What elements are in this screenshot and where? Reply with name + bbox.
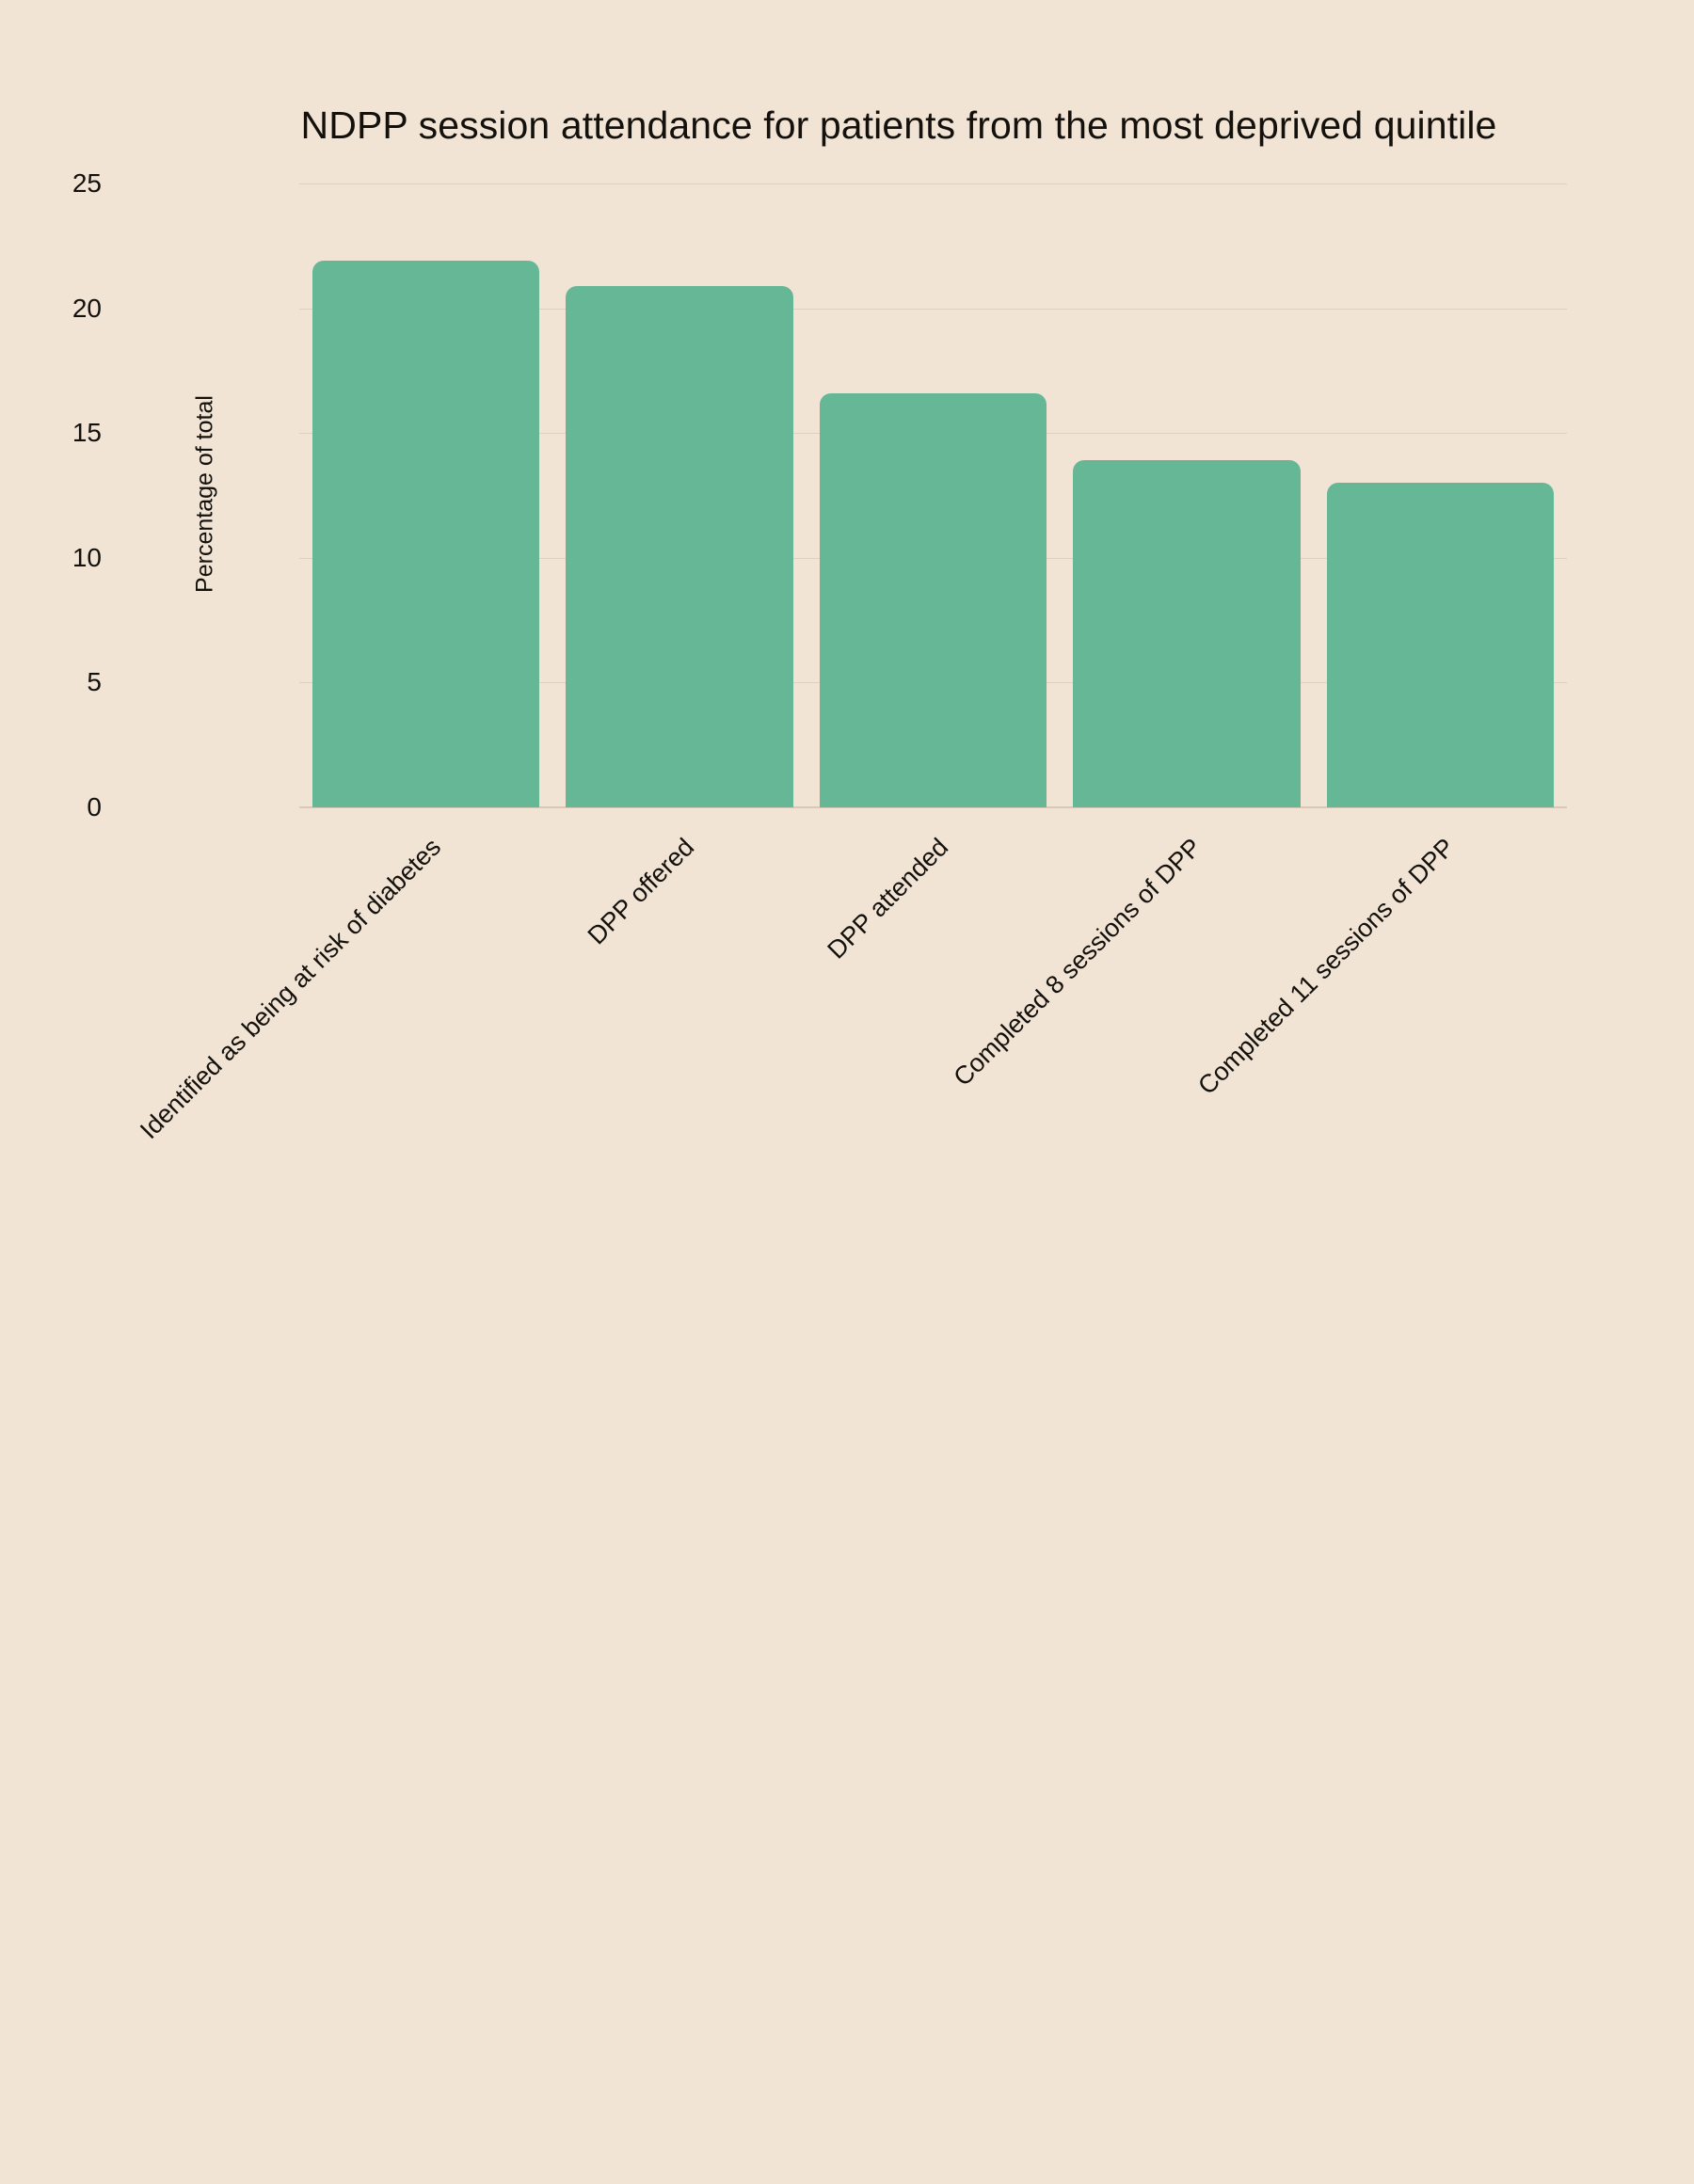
bar-chart: NDPP session attendance for patients fro… <box>0 0 1694 1196</box>
bar[interactable] <box>1073 460 1300 807</box>
bar-slot <box>1327 183 1554 807</box>
y-axis-title: Percentage of total <box>192 395 219 593</box>
x-tick-label: Completed 8 sessions of DPP <box>0 833 1207 2184</box>
bar-slot <box>566 183 792 807</box>
bar-slot <box>1073 183 1300 807</box>
bar[interactable] <box>566 286 792 807</box>
y-tick-label-25: 25 <box>36 168 102 199</box>
bar[interactable] <box>820 393 1047 807</box>
bar[interactable] <box>1327 483 1554 807</box>
x-tick-label: DPP offered <box>0 833 700 2184</box>
y-tick-label-10: 10 <box>36 543 102 573</box>
bar-slot <box>312 183 539 807</box>
bar-slot <box>820 183 1047 807</box>
bar-series <box>299 183 1567 807</box>
chart-title: NDPP session attendance for patients fro… <box>0 104 1694 148</box>
x-tick-label: Completed 11 sessions of DPP <box>109 833 1461 2184</box>
y-tick-label-20: 20 <box>36 294 102 324</box>
y-tick-label-5: 5 <box>36 667 102 697</box>
bar[interactable] <box>312 261 539 807</box>
y-tick-label-15: 15 <box>36 418 102 448</box>
y-tick-label-0: 0 <box>36 792 102 822</box>
